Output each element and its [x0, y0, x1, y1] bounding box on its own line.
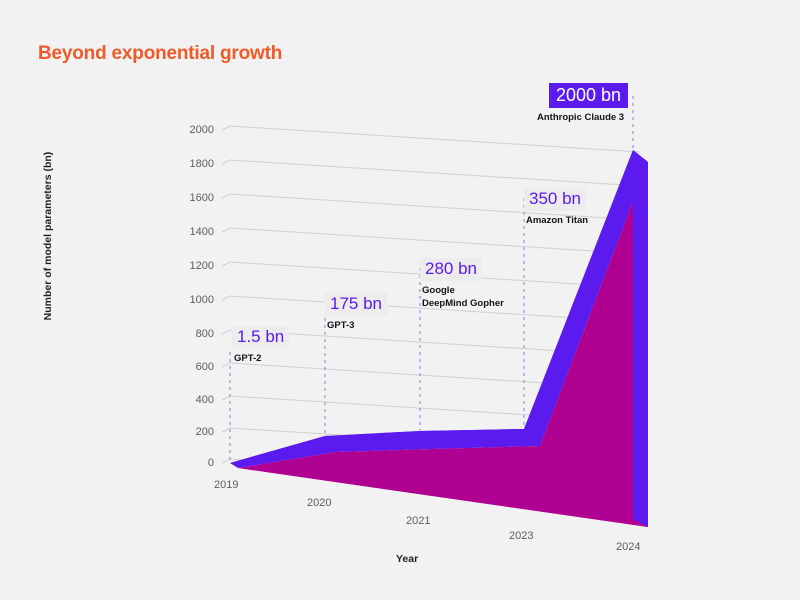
y-tick-2000: 2000 — [168, 124, 214, 136]
y-tick-400: 400 — [168, 394, 214, 406]
x-tick-2023: 2023 — [509, 530, 533, 542]
annotation-value-gpt-2: 1.5 bn — [232, 326, 289, 349]
y-tick-1000: 1000 — [168, 294, 214, 306]
annotation-deepmind-gopher: 280 bn Google DeepMind Gopher — [420, 258, 504, 310]
y-tick-1800: 1800 — [168, 158, 214, 170]
annotation-anthropic-claude-3: 2000 bn Anthropic Claude 3 — [549, 83, 628, 125]
y-axis-title: Number of model parameters (bn) — [42, 136, 54, 336]
y-tick-0: 0 — [168, 457, 214, 469]
annotation-value-deepmind-gopher: 280 bn — [420, 258, 482, 281]
x-tick-2024: 2024 — [616, 541, 640, 553]
chart-canvas: Beyond exponential growth — [0, 0, 800, 600]
y-tick-600: 600 — [168, 361, 214, 373]
y-tick-800: 800 — [168, 328, 214, 340]
y-tick-1400: 1400 — [168, 226, 214, 238]
annotation-value-gpt-3: 175 bn — [325, 293, 387, 316]
annotation-gpt-2: 1.5 bn GPT-2 — [232, 326, 289, 366]
x-axis-title: Year — [396, 553, 418, 565]
annotation-model-anthropic-claude-3: Anthropic Claude 3 — [537, 112, 628, 125]
annotation-value-amazon-titan: 350 bn — [524, 188, 586, 211]
area-right-side-face — [633, 150, 648, 527]
annotation-model-deepmind-gopher-line1: Google — [422, 285, 504, 298]
annotation-model-gpt-3: GPT-3 — [327, 320, 387, 333]
area-chart-3d — [0, 0, 800, 600]
y-tick-200: 200 — [168, 426, 214, 438]
x-tick-2020: 2020 — [307, 497, 331, 509]
annotation-model-gpt-2: GPT-2 — [234, 353, 289, 366]
x-tick-2019: 2019 — [214, 479, 238, 491]
x-tick-2021: 2021 — [406, 515, 430, 527]
annotation-gpt-3: 175 bn GPT-3 — [325, 293, 387, 333]
y-tick-1600: 1600 — [168, 192, 214, 204]
annotation-value-anthropic-claude-3: 2000 bn — [549, 83, 628, 108]
annotation-amazon-titan: 350 bn Amazon Titan — [524, 188, 588, 228]
y-tick-1200: 1200 — [168, 260, 214, 272]
annotation-model-amazon-titan: Amazon Titan — [526, 215, 588, 228]
annotation-model-deepmind-gopher-line2: DeepMind Gopher — [422, 298, 504, 311]
